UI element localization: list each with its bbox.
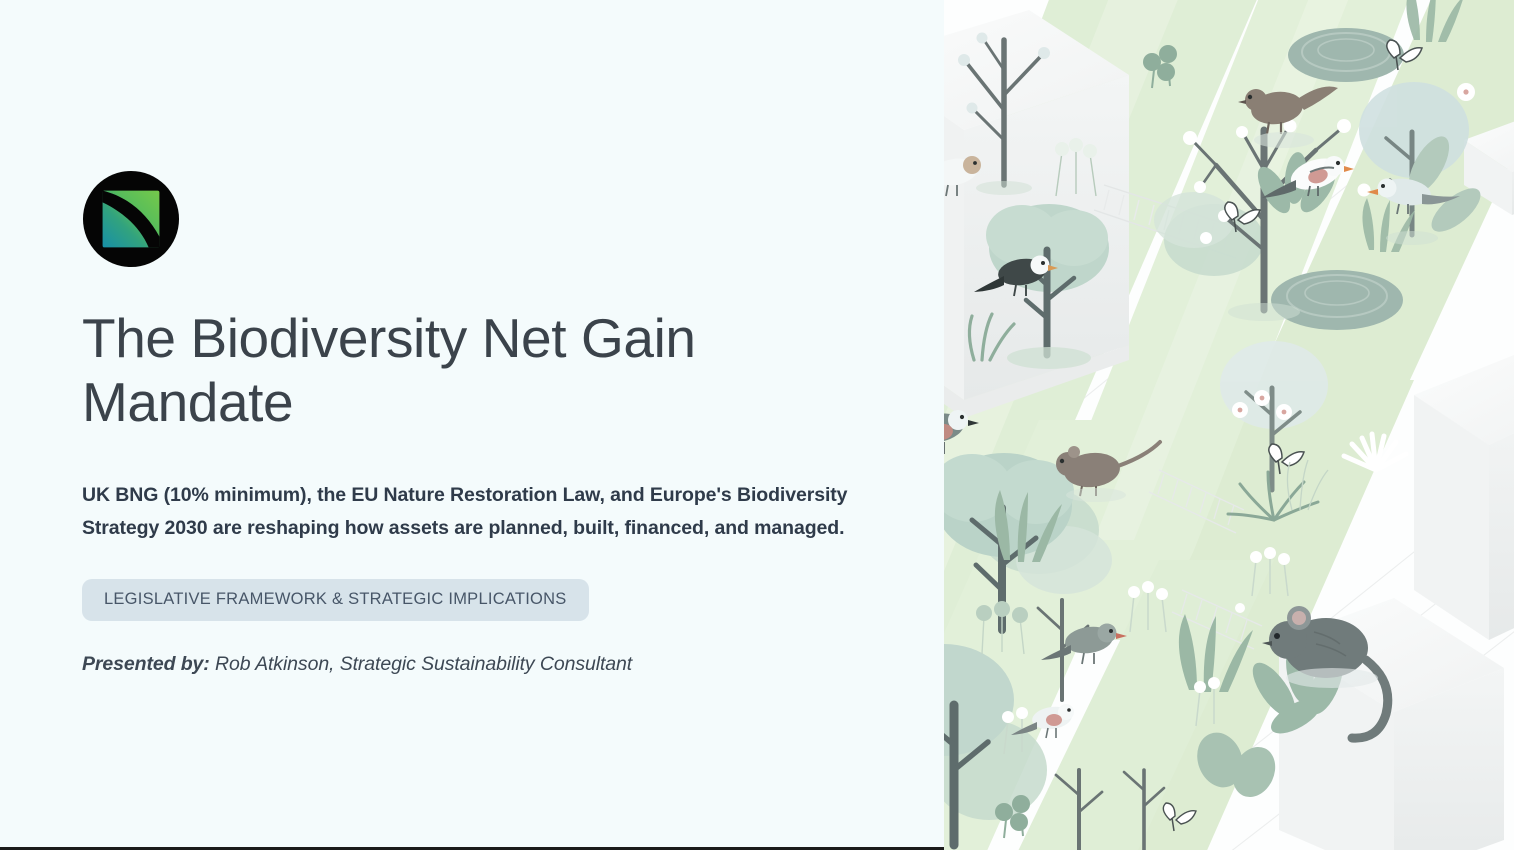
status-badge: LEGISLATIVE FRAMEWORK & STRATEGIC IMPLIC… bbox=[82, 579, 589, 621]
isometric-green-corridor-illustration bbox=[944, 0, 1514, 850]
page-title: The Biodiversity Net Gain Mandate bbox=[82, 306, 782, 435]
left-content-panel: The Biodiversity Net Gain Mandate UK BNG… bbox=[0, 0, 944, 850]
subtitle-text: UK BNG (10% minimum), the EU Nature Rest… bbox=[82, 479, 872, 545]
content-stack: The Biodiversity Net Gain Mandate UK BNG… bbox=[82, 170, 882, 676]
presenter-name: Rob Atkinson, Strategic Sustainability C… bbox=[215, 653, 632, 675]
presenter-label: Presented by: bbox=[82, 653, 210, 675]
presenter-line: Presented by: Rob Atkinson, Strategic Su… bbox=[82, 653, 882, 676]
title-slide: The Biodiversity Net Gain Mandate UK BNG… bbox=[0, 0, 1514, 850]
brand-logo bbox=[82, 170, 180, 268]
